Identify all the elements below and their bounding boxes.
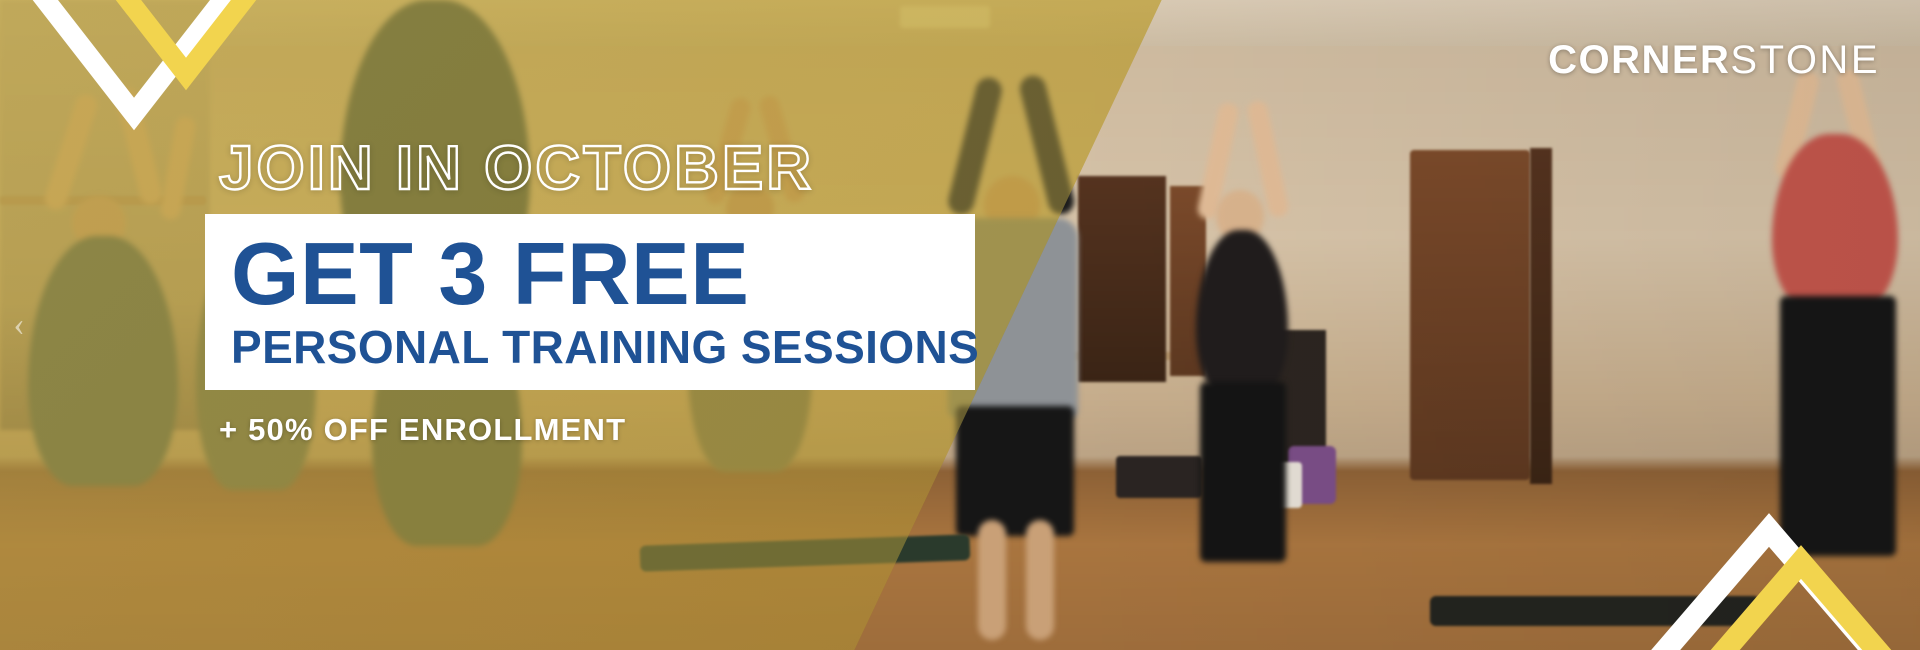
promo-copy: JOIN IN OCTOBER GET 3 FREE PERSONAL TRAI… [205, 138, 995, 448]
promo-tagline: + 50% OFF ENROLLMENT [205, 412, 995, 448]
promo-banner: CORNER STONE JOIN IN OCTOBER GET 3 FREE … [0, 0, 1920, 650]
chevron-up-icon [1604, 380, 1920, 650]
cornerstone-logo[interactable]: CORNER STONE [1548, 38, 1884, 83]
promo-subline: PERSONAL TRAINING SESSIONS [231, 324, 949, 370]
logo-bold-text: CORNER [1548, 38, 1730, 83]
carousel-prev-arrow-icon[interactable]: ‹ [2, 297, 36, 353]
logo-thin-text: STONE [1730, 38, 1880, 83]
promo-eyebrow: JOIN IN OCTOBER [205, 138, 995, 200]
promo-headline: GET 3 FREE [231, 232, 949, 316]
promo-white-panel: GET 3 FREE PERSONAL TRAINING SESSIONS [205, 214, 975, 390]
